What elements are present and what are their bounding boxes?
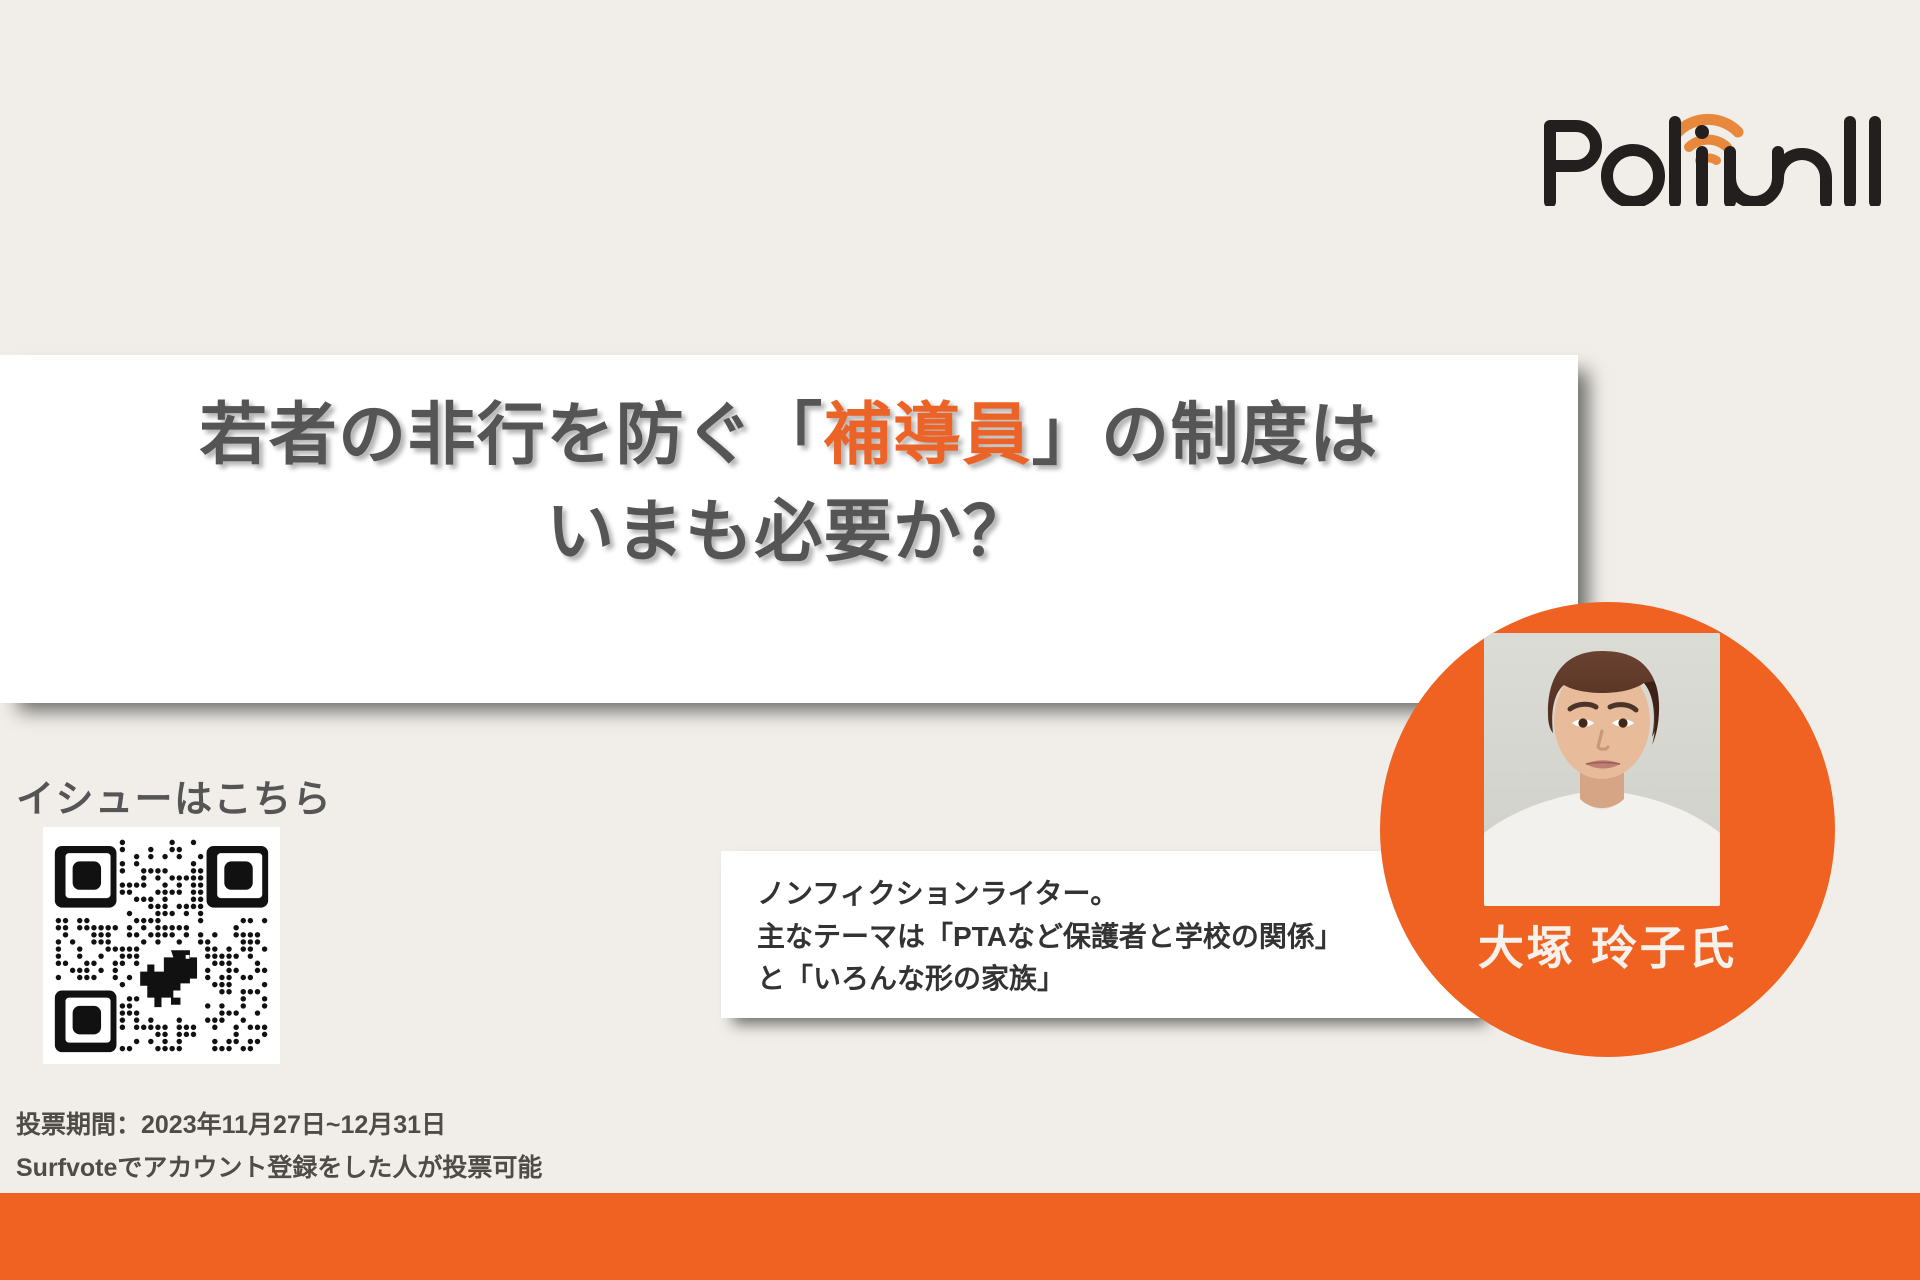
letter-i-dot <box>1695 125 1709 139</box>
issue-label: イシューはこちら <box>16 768 332 823</box>
bio-line-1: ノンフィクションライター。 <box>757 873 1463 916</box>
slide-canvas: 若者の非行を防ぐ「補導員」の制度は いまも必要か？ イシューはこちら <box>0 0 1920 1280</box>
page-title: 若者の非行を防ぐ「補導員」の制度は いまも必要か？ <box>0 387 1578 580</box>
title-line1-before: 若者の非行を防ぐ「 <box>199 397 823 473</box>
title-line1-after: 」の制度は <box>1032 397 1379 473</box>
vote-info: 投票期間：2023年11月27日~12月31日 Surfvoteでアカウント登録… <box>16 1104 542 1189</box>
bottom-accent-bar <box>0 1193 1920 1280</box>
bio-card: ノンフィクションライター。 主なテーマは「PTAなど保護者と学校の関係」 と「い… <box>721 851 1481 1018</box>
title-card: 若者の非行を防ぐ「補導員」の制度は いまも必要か？ <box>0 355 1578 703</box>
polimill-logo <box>1530 96 1890 206</box>
vote-eligibility: Surfvoteでアカウント登録をした人が投票可能 <box>16 1147 542 1190</box>
qr-code[interactable] <box>43 827 280 1064</box>
avatar <box>1484 633 1720 906</box>
speaker-badge: 大塚 玲子氏 <box>1380 602 1835 1057</box>
title-line-2: いまも必要か？ <box>30 484 1548 581</box>
bio-line-2: 主なテーマは「PTAなど保護者と学校の関係」 <box>757 916 1463 959</box>
speaker-portrait-photo <box>1484 633 1720 906</box>
bio-text: ノンフィクションライター。 主なテーマは「PTAなど保護者と学校の関係」 と「い… <box>757 873 1463 1001</box>
vote-period: 投票期間：2023年11月27日~12月31日 <box>16 1104 542 1147</box>
speaker-name: 大塚 玲子氏 <box>1380 912 1835 978</box>
title-line-1: 若者の非行を防ぐ「補導員」の制度は <box>30 387 1548 484</box>
bio-line-3: と「いろんな形の家族」 <box>757 958 1463 1001</box>
polimill-logo-svg <box>1530 96 1890 206</box>
title-highlight: 補導員 <box>824 397 1032 473</box>
qr-code-with-dinosaur-icon <box>43 827 280 1064</box>
